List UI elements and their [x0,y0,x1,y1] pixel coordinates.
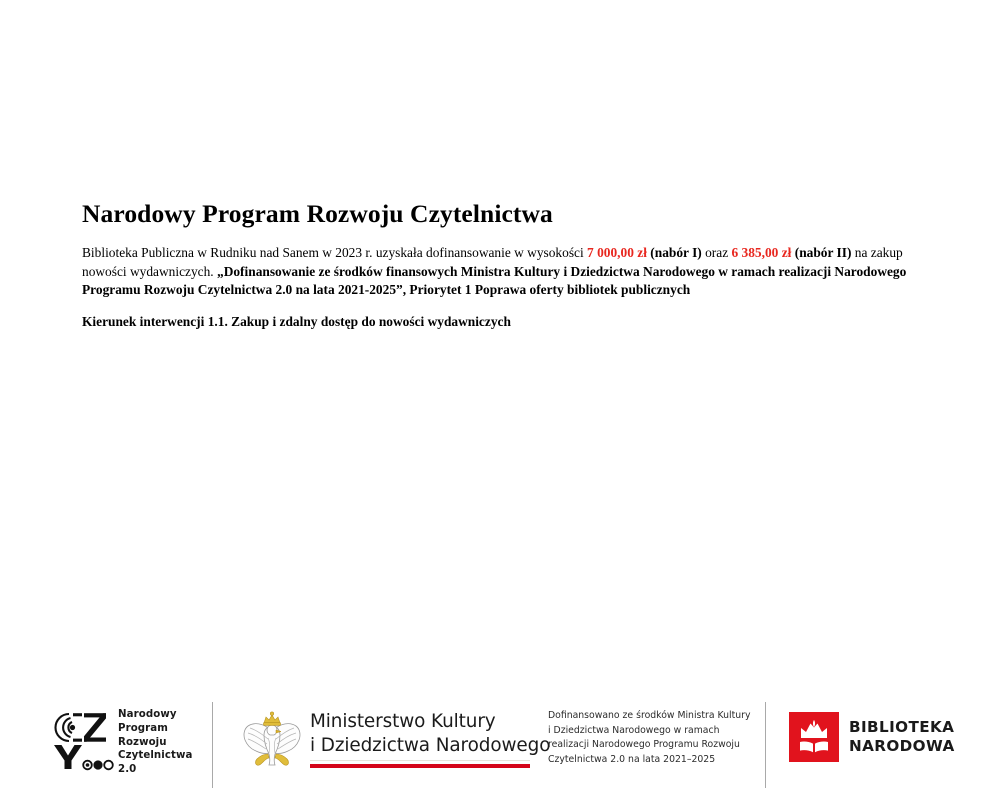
mkidn-logo: Ministerstwo Kultury i Dziedzictwa Narod… [238,704,530,780]
amount-nabor-1-label: (nabór I) [647,245,702,260]
biblioteka-narodowa-logo: BIBLIOTEKA NARODOWA [789,712,959,764]
funding-paragraph: Biblioteka Publiczna w Rudniku nad Sanem… [82,244,930,299]
funding-note-line-2: i Dziedzictwa Narodowego w ramach [548,724,753,739]
nprcz-logo-label: Narodowy Program Rozwoju Czytelnictwa 2.… [118,708,192,777]
funding-note-line-3: realizacji Narodowego Programu Rozwoju [548,738,753,753]
nprcz-logo: Narodowy Program Rozwoju Czytelnictwa 2.… [52,708,202,788]
nprcz-line-3: Rozwoju [118,736,192,750]
amount-nabor-2-label: (nabór II) [791,245,851,260]
funding-note-line-1: Dofinansowano ze środków Ministra Kultur… [548,709,753,724]
polish-eagle-emblem-icon [238,706,306,776]
nprcz-line-2: Program [118,722,192,736]
page-title: Narodowy Program Rozwoju Czytelnictwa [82,200,553,228]
paragraph-segment-1: Biblioteka Publiczna w Rudniku nad Sanem… [82,245,587,260]
amount-nabor-1: 7 000,00 zł [587,245,647,260]
biblioteka-narodowa-label: BIBLIOTEKA NARODOWA [849,718,955,756]
logo-bar: Narodowy Program Rozwoju Czytelnictwa 2.… [0,348,1000,448]
nprcz-line-5: 2.0 [118,763,192,777]
mkidn-logo-label: Ministerstwo Kultury i Dziedzictwa Narod… [310,710,550,758]
crown-book-emblem-icon [789,712,839,762]
mkidn-line-1: Ministerstwo Kultury [310,710,550,734]
intervention-direction-line: Kierunek interwencji 1.1. Zakup i zdalny… [82,313,511,331]
nprcz-line-1: Narodowy [118,708,192,722]
bn-line-2: NARODOWA [849,737,955,756]
funding-attribution-note: Dofinansowano ze środków Ministra Kultur… [548,709,753,767]
nprcz-line-4: Czytelnictwa [118,749,192,763]
flag-bar-red [310,764,530,768]
logo-divider-1 [212,702,213,788]
bn-line-1: BIBLIOTEKA [849,718,955,737]
document-page: Narodowy Program Rozwoju Czytelnictwa Bi… [0,0,1000,707]
logo-divider-2 [765,702,766,788]
amount-nabor-2: 6 385,00 zł [732,245,792,260]
czy-logo-mark-icon [52,710,114,772]
funding-note-line-4: Czytelnictwa 2.0 na lata 2021–2025 [548,753,753,768]
polish-flag-bar [310,760,530,768]
paragraph-segment-2: oraz [702,245,732,260]
mkidn-line-2: i Dziedzictwa Narodowego [310,734,550,758]
